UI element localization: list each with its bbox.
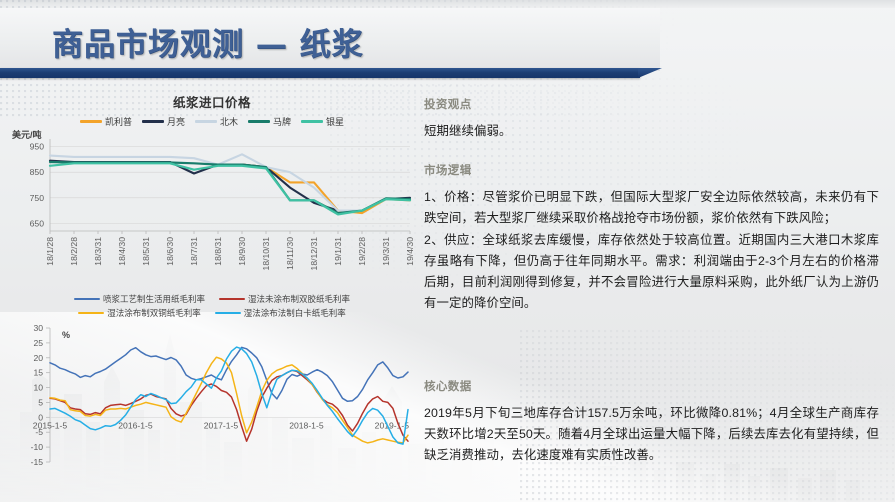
legend-label: 银星 (326, 115, 344, 128)
legend-item[interactable]: 湿法未涂布制双胶纸毛利率 (219, 293, 350, 305)
legend-swatch-beimu (195, 120, 217, 123)
legend-label: 喷浆工艺制生活用纸毛利率 (103, 293, 205, 305)
legend-item[interactable]: 银星 (301, 115, 344, 128)
legend-swatch-mapai (248, 120, 270, 123)
slide-canvas: 商品市场观测 — 纸浆 纸浆进口价格 凯利普 月亮 北木 马牌 银 (0, 0, 895, 502)
section-heading-core-data: 核心数据 (424, 378, 879, 394)
legend-item[interactable]: 喷浆工艺制生活用纸毛利率 (74, 293, 205, 305)
svg-text:18/9/30: 18/9/30 (237, 237, 247, 266)
legend-label: 北木 (220, 115, 238, 128)
legend-swatch-yueliang (142, 120, 164, 123)
page-title: 商品市场观测 — 纸浆 (52, 19, 364, 64)
legend-item[interactable]: 马牌 (248, 115, 291, 128)
chart-top-title: 纸浆进口价格 (8, 92, 416, 113)
svg-text:2017-1-5: 2017-1-5 (204, 420, 239, 430)
svg-text:2015-1-5: 2015-1-5 (33, 420, 68, 430)
svg-text:19/4/30: 19/4/30 (405, 237, 415, 266)
legend-swatch-yinxing (301, 120, 323, 123)
svg-text:30: 30 (33, 323, 43, 333)
legend-item[interactable]: 月亮 (142, 115, 185, 128)
svg-text:18/5/31: 18/5/31 (141, 237, 151, 266)
svg-text:650: 650 (30, 218, 45, 228)
legend-label: 湿法涂布法制白卡纸毛利率 (244, 307, 346, 319)
svg-text:2018-1-5: 2018-1-5 (289, 420, 324, 430)
svg-text:18/12/31: 18/12/31 (309, 237, 319, 271)
legend-item[interactable]: 湿法涂布法制白卡纸毛利率 (215, 307, 346, 319)
legend-item[interactable]: 凯利普 (80, 115, 132, 128)
svg-text:2019-1-5: 2019-1-5 (375, 420, 410, 430)
svg-text:850: 850 (30, 167, 45, 177)
legend-label: 马牌 (273, 115, 291, 128)
market-logic-paragraph-1: 1、价格：尽管浆价已明显下跌，但国际大型浆厂安全边际依然较高，未来仍有下跌空间，… (424, 187, 879, 229)
legend-swatch-coated-margin (78, 312, 104, 314)
svg-text:25: 25 (33, 338, 43, 348)
chart-paper-gross-margin: 喷浆工艺制生活用纸毛利率 湿法未涂布制双胶纸毛利率 湿法涂布制双铜纸毛利率 湿法… (8, 292, 416, 500)
core-data-body: 2019年5月下旬三地库存合计157.5万余吨，环比微降0.81%；4月全球生产… (424, 403, 879, 466)
header-accent-rule (0, 68, 640, 78)
svg-text:18/3/31: 18/3/31 (93, 237, 103, 266)
svg-text:750: 750 (30, 193, 45, 203)
legend-swatch-tissue-margin (74, 298, 100, 300)
chart-bottom-plot: -15-10-5051015202530%2015-1-52016-1-5201… (8, 320, 416, 492)
svg-text:18/2/28: 18/2/28 (69, 237, 79, 266)
legend-label: 凯利普 (105, 115, 132, 128)
analysis-column: 投资观点 短期继续偏弱。 市场逻辑 1、价格：尽管浆价已明显下跌，但国际大型浆厂… (424, 96, 879, 315)
svg-text:18/6/30: 18/6/30 (165, 237, 175, 266)
svg-text:20: 20 (33, 353, 43, 363)
svg-text:%: % (62, 330, 70, 340)
svg-text:-10: -10 (31, 442, 44, 452)
legend-item[interactable]: 湿法涂布制双铜纸毛利率 (78, 307, 201, 319)
svg-text:18/11/30: 18/11/30 (285, 237, 295, 270)
svg-text:5: 5 (38, 397, 43, 407)
svg-text:18/1/28: 18/1/28 (45, 237, 55, 266)
svg-text:19/2/28: 19/2/28 (357, 237, 367, 266)
chart-top-plot: 650750850950美元/吨18/1/2818/2/2818/3/3118/… (8, 129, 416, 289)
market-logic-paragraph-2: 2、供应：全球纸浆去库缓慢，库存依然处于较高位置。近期国内三大港口木浆库存虽略有… (424, 230, 879, 314)
legend-swatch-kailipu (80, 120, 102, 123)
legend-item[interactable]: 北木 (195, 115, 238, 128)
svg-text:19/1/31: 19/1/31 (333, 237, 343, 266)
svg-text:2016-1-5: 2016-1-5 (118, 420, 153, 430)
core-data-block: 核心数据 2019年5月下旬三地库存合计157.5万余吨，环比微降0.81%；4… (424, 378, 879, 466)
svg-text:18/4/30: 18/4/30 (117, 237, 127, 266)
svg-text:10: 10 (33, 383, 43, 393)
legend-label: 月亮 (167, 115, 185, 128)
svg-text:18/10/31: 18/10/31 (261, 237, 271, 271)
top-edge-band (0, 0, 895, 8)
svg-text:-15: -15 (31, 457, 44, 467)
investment-view-body: 短期继续偏弱。 (424, 121, 879, 142)
chart-top-legend: 凯利普 月亮 北木 马牌 银星 (8, 113, 416, 129)
legend-swatch-uncoated-margin (219, 298, 245, 300)
section-heading-market-logic: 市场逻辑 (424, 162, 879, 178)
svg-text:18/7/31: 18/7/31 (189, 237, 199, 266)
svg-text:美元/吨: 美元/吨 (12, 129, 42, 140)
chart-bottom-legend: 喷浆工艺制生活用纸毛利率 湿法未涂布制双胶纸毛利率 湿法涂布制双铜纸毛利率 湿法… (8, 292, 416, 320)
svg-text:15: 15 (33, 368, 43, 378)
legend-swatch-ivoryboard-margin (215, 312, 241, 314)
legend-label: 湿法未涂布制双胶纸毛利率 (248, 293, 350, 305)
legend-label: 湿法涂布制双铜纸毛利率 (107, 307, 201, 319)
svg-text:19/3/31: 19/3/31 (381, 237, 391, 266)
svg-text:950: 950 (30, 142, 45, 152)
svg-text:18/8/31: 18/8/31 (213, 237, 223, 266)
chart-pulp-import-price: 纸浆进口价格 凯利普 月亮 北木 马牌 银星 65075085 (8, 92, 416, 288)
section-heading-investment-view: 投资观点 (424, 96, 879, 112)
